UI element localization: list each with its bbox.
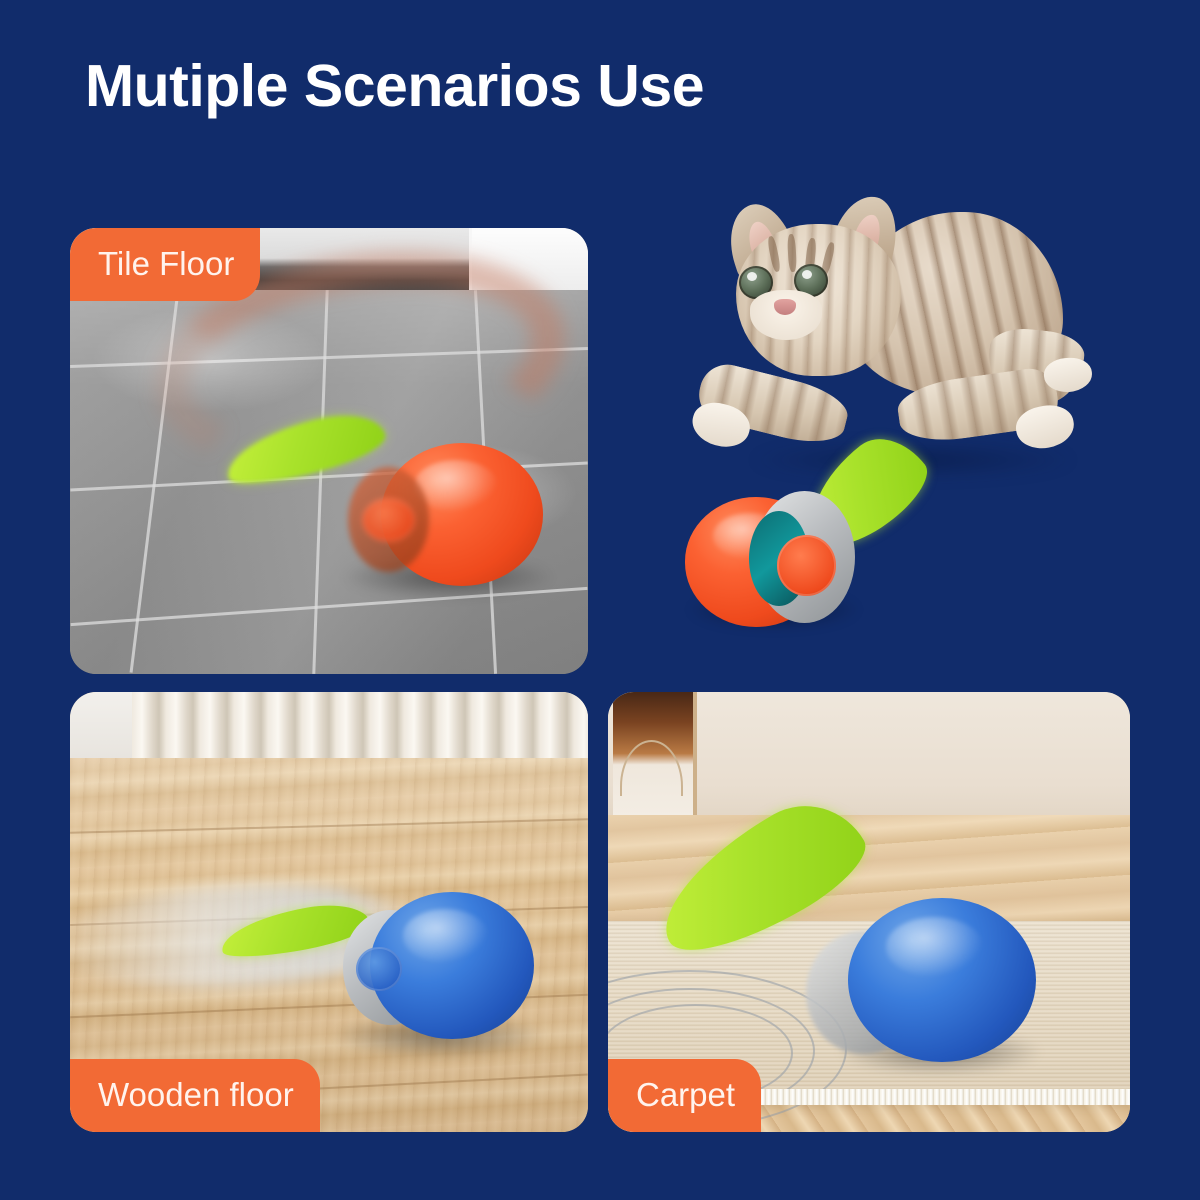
ball-body [848, 898, 1036, 1063]
badge-carpet: Carpet [608, 1059, 761, 1132]
picture-frame [613, 692, 697, 824]
hero-ball-button [777, 535, 837, 596]
badge-label: Wooden floor [98, 1076, 294, 1113]
badge-wooden-floor: Wooden floor [70, 1059, 320, 1132]
badge-label: Carpet [636, 1076, 735, 1113]
toy-ball-blue [329, 877, 557, 1062]
badge-tile-floor: Tile Floor [70, 228, 260, 301]
scenario-card-wooden-floor[interactable]: Wooden floor [70, 692, 588, 1132]
hero-toy-ball [680, 460, 910, 630]
toy-ball-orange [329, 433, 567, 602]
ball-button [362, 498, 414, 542]
toy-ball-blue [796, 868, 1057, 1079]
scenario-card-carpet[interactable]: Carpet [608, 692, 1130, 1132]
scenario-card-tile[interactable]: Tile Floor [70, 228, 588, 674]
badge-label: Tile Floor [98, 245, 234, 282]
ball-button [356, 947, 402, 991]
hero-illustration [660, 150, 1130, 670]
page-title: Mutiple Scenarios Use [85, 52, 704, 120]
kitten-icon [698, 180, 1090, 480]
infographic-page: Mutiple Scenarios Use [0, 0, 1200, 1200]
